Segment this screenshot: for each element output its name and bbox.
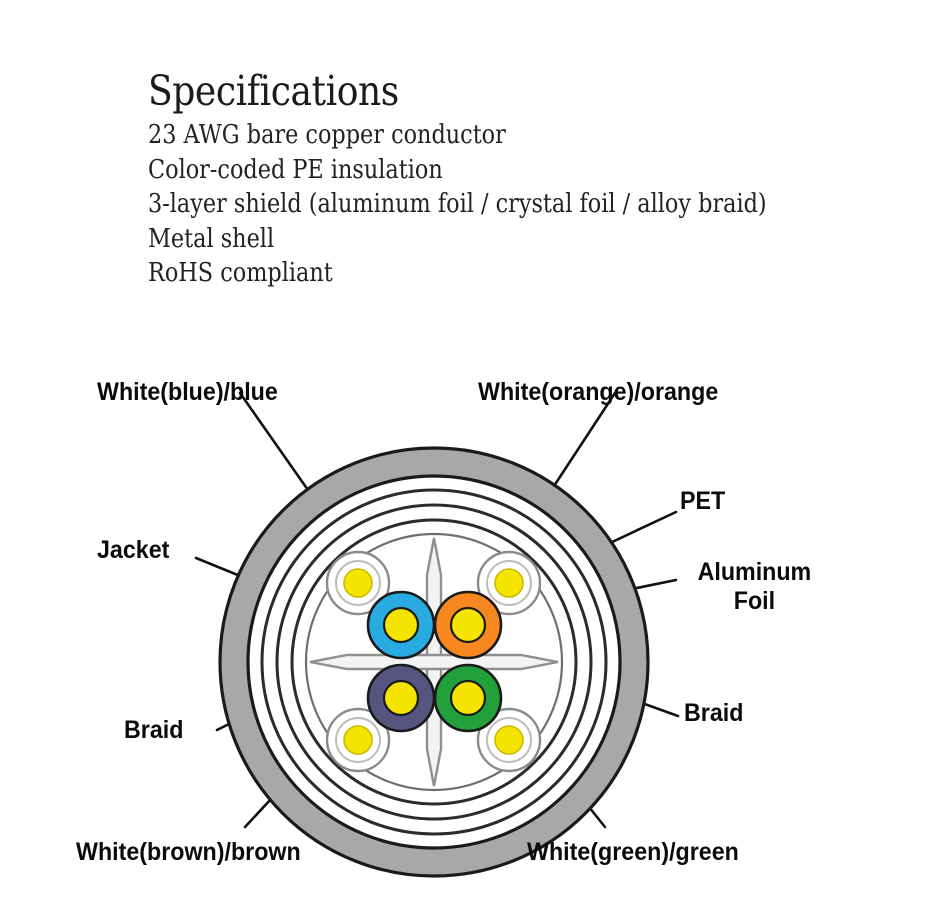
label-braid-right: Braid xyxy=(684,699,743,728)
spec-line-shell: Metal shell xyxy=(148,222,750,257)
cable-cross-section-svg xyxy=(0,340,950,903)
label-white-green: White(green)/green xyxy=(527,838,739,867)
label-aluminum-foil-line1: Aluminum xyxy=(680,558,829,587)
separator-horizontal xyxy=(310,655,558,669)
cable-cross-section-diagram xyxy=(0,340,950,903)
conductor-blue xyxy=(368,592,434,658)
page-root: Specifications 23 AWG bare copper conduc… xyxy=(0,0,950,903)
label-white-brown: White(brown)/brown xyxy=(76,838,301,867)
conductor-orange xyxy=(435,592,501,658)
spec-line-conductor: 23 AWG bare copper conductor xyxy=(148,118,750,153)
label-white-orange: White(orange)/orange xyxy=(478,378,718,407)
spec-line-shield: 3-layer shield (aluminum foil / crystal … xyxy=(148,187,750,222)
label-aluminum-foil: Aluminum Foil xyxy=(680,558,829,616)
specifications-title: Specifications xyxy=(148,66,764,116)
label-jacket: Jacket xyxy=(97,536,169,565)
label-aluminum-foil-line2: Foil xyxy=(680,587,829,616)
specifications-block: Specifications 23 AWG bare copper conduc… xyxy=(148,66,848,291)
label-pet: PET xyxy=(680,487,725,516)
conductor-green xyxy=(435,665,501,731)
spec-line-rohs: RoHS compliant xyxy=(148,256,750,291)
spec-line-insulation: Color-coded PE insulation xyxy=(148,153,750,188)
label-braid-left: Braid xyxy=(124,716,183,745)
label-white-blue: White(blue)/blue xyxy=(97,378,278,407)
conductor-brown xyxy=(368,665,434,731)
